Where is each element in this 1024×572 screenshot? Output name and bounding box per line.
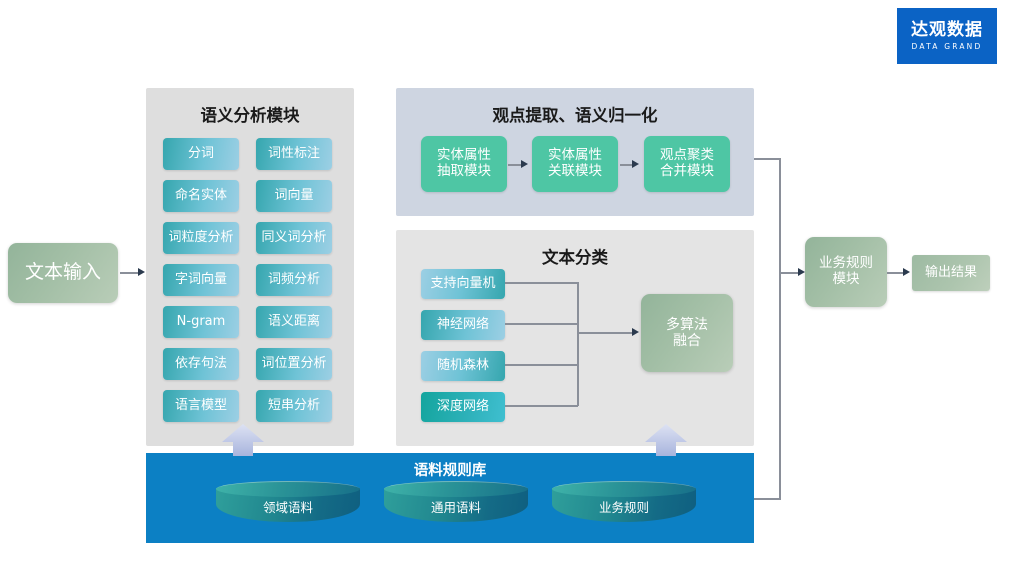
business-rules-module[interactable]: 业务规则 模块 xyxy=(805,237,887,307)
corpus-cylinder-1[interactable]: 通用语料 xyxy=(384,481,528,523)
semantic-tile-13[interactable]: 短串分析 xyxy=(256,390,332,422)
semantic-tile-1[interactable]: 词性标注 xyxy=(256,138,332,170)
brand-logo: 达观数据 DATA GRAND xyxy=(897,8,997,64)
semantic-tile-7[interactable]: 词频分析 xyxy=(256,264,332,296)
connector-opinion-to-bus xyxy=(754,158,781,160)
arrowhead-bus-to-fusion xyxy=(632,328,639,336)
corpus-cylinder-0-label: 领域语料 xyxy=(216,497,360,516)
text-input-box: 文本输入 xyxy=(8,243,118,303)
diagram-canvas: 达观数据 DATA GRAND 文本输入 语义分析模块 分词 词性标注 命名实体… xyxy=(0,0,1024,572)
connector-classifier-2 xyxy=(505,364,578,366)
opinion-extraction-title: 观点提取、语义归一化 xyxy=(396,102,754,126)
corpus-rule-library-title: 语料规则库 xyxy=(146,459,754,480)
text-classification-title: 文本分类 xyxy=(396,244,754,268)
connector-input-to-semantic xyxy=(120,272,140,274)
brand-logo-en: DATA GRAND xyxy=(912,43,983,51)
corpus-cylinder-1-label: 通用语料 xyxy=(384,497,528,516)
opinion-step-1[interactable]: 实体属性 关联模块 xyxy=(532,136,618,192)
semantic-analysis-title: 语义分析模块 xyxy=(146,102,354,126)
classifier-tile-3[interactable]: 深度网络 xyxy=(421,392,505,422)
classifier-tile-1[interactable]: 神经网络 xyxy=(421,310,505,340)
corpus-cylinder-2[interactable]: 业务规则 xyxy=(552,481,696,523)
semantic-tile-8[interactable]: N-gram xyxy=(163,306,239,338)
brand-logo-cn: 达观数据 xyxy=(911,22,983,39)
cylinder-top xyxy=(552,481,696,497)
up-arrow-to-semantic-icon xyxy=(222,424,264,456)
fusion-box[interactable]: 多算法 融合 xyxy=(641,294,733,372)
classifier-tile-0[interactable]: 支持向量机 xyxy=(421,269,505,299)
semantic-tile-6[interactable]: 字词向量 xyxy=(163,264,239,296)
classifier-tile-2[interactable]: 随机森林 xyxy=(421,351,505,381)
semantic-tile-0[interactable]: 分词 xyxy=(163,138,239,170)
cylinder-top xyxy=(216,481,360,497)
semantic-tile-2[interactable]: 命名实体 xyxy=(163,180,239,212)
connector-classifier-1 xyxy=(505,323,578,325)
arrowhead-opinion-1-2 xyxy=(632,160,639,168)
up-arrow-to-classification-icon xyxy=(645,424,687,456)
arrowhead-opinion-0-1 xyxy=(521,160,528,168)
semantic-tile-10[interactable]: 依存句法 xyxy=(163,348,239,380)
connector-classifier-0 xyxy=(505,282,578,284)
arrowhead-bus-to-rules xyxy=(798,268,805,276)
semantic-tile-4[interactable]: 词粒度分析 xyxy=(163,222,239,254)
connector-bus-to-fusion xyxy=(577,332,635,334)
semantic-tile-12[interactable]: 语言模型 xyxy=(163,390,239,422)
semantic-tile-5[interactable]: 同义词分析 xyxy=(256,222,332,254)
output-result-box[interactable]: 输出结果 xyxy=(912,255,990,291)
cylinder-top xyxy=(384,481,528,497)
connector-corpus-to-bus xyxy=(754,498,781,500)
connector-classifier-bus xyxy=(577,282,579,406)
corpus-cylinder-0[interactable]: 领域语料 xyxy=(216,481,360,523)
semantic-tile-9[interactable]: 语义距离 xyxy=(256,306,332,338)
opinion-step-2[interactable]: 观点聚类 合并模块 xyxy=(644,136,730,192)
semantic-tile-3[interactable]: 词向量 xyxy=(256,180,332,212)
semantic-tile-11[interactable]: 词位置分析 xyxy=(256,348,332,380)
corpus-cylinder-2-label: 业务规则 xyxy=(552,497,696,516)
arrowhead-input-to-semantic xyxy=(138,268,145,276)
opinion-step-0[interactable]: 实体属性 抽取模块 xyxy=(421,136,507,192)
connector-classifier-3 xyxy=(505,405,578,407)
connector-right-bus xyxy=(779,158,781,499)
arrowhead-rules-to-output xyxy=(903,268,910,276)
